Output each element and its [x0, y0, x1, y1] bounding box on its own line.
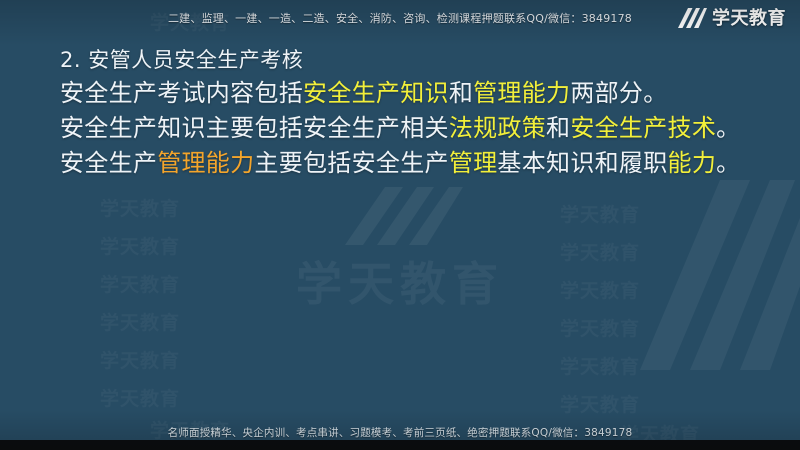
- watermark-tile: 学天教育: [560, 238, 640, 265]
- bottom-letterbox-bar: [0, 440, 800, 450]
- content-line-3: 安全生产知识主要包括安全生产相关法规政策和安全生产技术。: [60, 111, 770, 146]
- line2-highlight-safety-knowledge: 安全生产知识: [303, 79, 449, 107]
- line2-highlight-management-ability: 管理能力: [473, 79, 570, 107]
- slide-footer: 名师面授精华、央企内训、考点串讲、习题模考、考前三页纸、绝密押题联系QQ/微信：…: [0, 424, 800, 440]
- watermark-tile: 学天教育: [100, 270, 180, 297]
- watermark-tile: 学天教育: [100, 232, 180, 259]
- watermark-center-brand: 学天教育: [296, 248, 504, 314]
- line2-seg-plain-2: 和: [449, 79, 473, 107]
- watermark-tile: 学天教育: [560, 352, 640, 379]
- content-line-1: 2. 安管人员安全生产考核: [60, 44, 770, 76]
- watermark-tile: 学天教育: [560, 200, 640, 227]
- watermark-tile: 学天教育: [560, 390, 640, 417]
- content-line-2: 安全生产考试内容包括安全生产知识和管理能力两部分。: [60, 76, 770, 111]
- footer-promo-text: 名师面授精华、央企内训、考点串讲、习题模考、考前三页纸、绝密押题联系QQ/微信：…: [168, 425, 633, 440]
- header-promo-text: 二建、监理、一建、一造、二造、安全、消防、咨询、检测课程押题联系QQ/微信：38…: [168, 10, 632, 26]
- brand-name-text: 学天教育: [712, 4, 786, 30]
- line4-highlight-ability: 能力: [668, 149, 717, 177]
- line3-seg-plain-2: 和: [546, 114, 570, 142]
- content-line-4: 安全生产管理能力主要包括安全生产管理基本知识和履职能力。: [60, 146, 770, 181]
- line3-highlight-laws-policies: 法规政策: [449, 114, 546, 142]
- line4-highlight-management-ability: 管理能力: [157, 149, 254, 177]
- line4-seg-plain-1: 安全生产: [60, 149, 157, 177]
- watermark-logo-mark-icon: [337, 185, 463, 245]
- line4-seg-plain-4: 。: [716, 149, 740, 177]
- watermark-tile: 学天教育: [100, 194, 180, 221]
- line4-seg-plain-2: 主要包括安全生产: [254, 149, 448, 177]
- watermark-tile: 学天教育: [100, 384, 180, 411]
- line3-seg-plain-1: 安全生产知识主要包括安全生产相关: [60, 114, 449, 142]
- watermark-diagonal-stripes-icon: [580, 150, 800, 370]
- line2-seg-plain-3: 两部分。: [570, 79, 667, 107]
- line1-seg-plain: 2. 安管人员安全生产考核: [60, 48, 303, 72]
- lecture-slide: 学天教育 学天教育 学天教育 学天教育 学天教育 学天教育 学天教育 学天教育 …: [0, 0, 800, 450]
- line3-seg-plain-3: 。: [716, 114, 740, 142]
- line4-seg-plain-3: 基本知识和履职: [497, 149, 667, 177]
- slide-content: 2. 安管人员安全生产考核 安全生产考试内容包括安全生产知识和管理能力两部分。 …: [60, 44, 770, 181]
- line2-seg-plain-1: 安全生产考试内容包括: [60, 79, 303, 107]
- watermark-tile: 学天教育: [100, 308, 180, 335]
- line4-highlight-management: 管理: [449, 149, 498, 177]
- watermark-tile: 学天教育: [560, 276, 640, 303]
- line3-highlight-safety-technology: 安全生产技术: [570, 114, 716, 142]
- brand-logo: 学天教育: [677, 4, 786, 30]
- watermark-tile: 学天教育: [100, 346, 180, 373]
- watermark-tile: 学天教育: [560, 314, 640, 341]
- slanted-stripes-logo-icon: [677, 7, 707, 28]
